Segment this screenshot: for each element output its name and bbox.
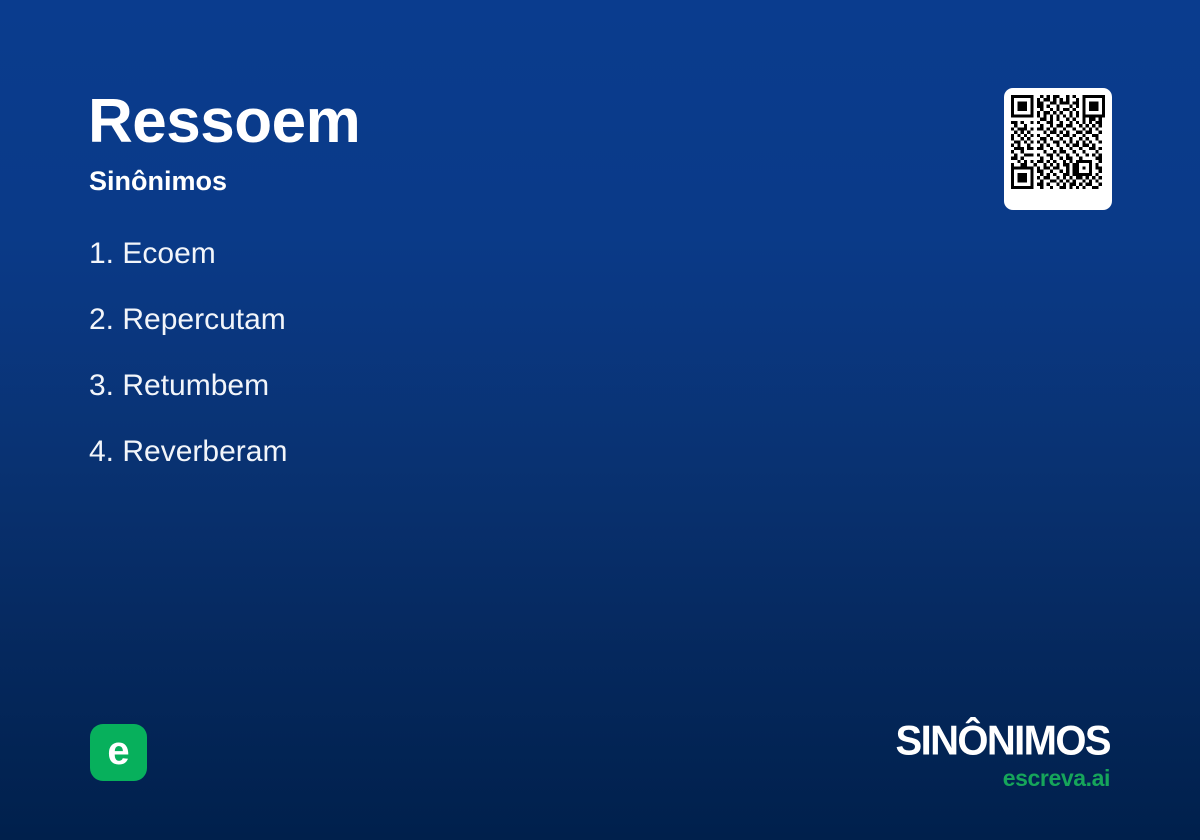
- synonym-card: Ressoem Sinônimos 1. Ecoem 2. Repercutam…: [0, 0, 1200, 840]
- list-item-label: Ecoem: [122, 237, 215, 270]
- brand-mark-letter: e: [107, 731, 129, 771]
- qr-code-icon: [1011, 95, 1105, 189]
- list-item-label: Repercutam: [122, 303, 285, 336]
- escreva-e-logo-icon[interactable]: e: [90, 724, 147, 781]
- section-label: Sinônimos: [89, 168, 227, 195]
- list-item-index: 4.: [89, 435, 114, 468]
- list-item-index: 1.: [89, 237, 114, 270]
- list-item-index: 2.: [89, 303, 114, 336]
- qr-code-card[interactable]: [1004, 88, 1112, 210]
- list-item-index: 3.: [89, 369, 114, 402]
- synonym-list: 1. Ecoem 2. Repercutam 3. Retumbem 4. Re…: [89, 239, 287, 503]
- list-item: 3. Retumbem: [89, 371, 287, 437]
- list-item: 4. Reverberam: [89, 437, 287, 503]
- list-item-label: Retumbem: [122, 369, 269, 402]
- brand-wordmark[interactable]: SINÔNIMOS escreva.ai: [895, 722, 1110, 790]
- brand-wordmark-title: SINÔNIMOS: [895, 720, 1110, 762]
- page-title: Ressoem: [88, 91, 360, 153]
- brand-wordmark-subtitle: escreva.ai: [895, 767, 1110, 790]
- list-item: 2. Repercutam: [89, 305, 287, 371]
- list-item: 1. Ecoem: [89, 239, 287, 305]
- list-item-label: Reverberam: [122, 435, 287, 468]
